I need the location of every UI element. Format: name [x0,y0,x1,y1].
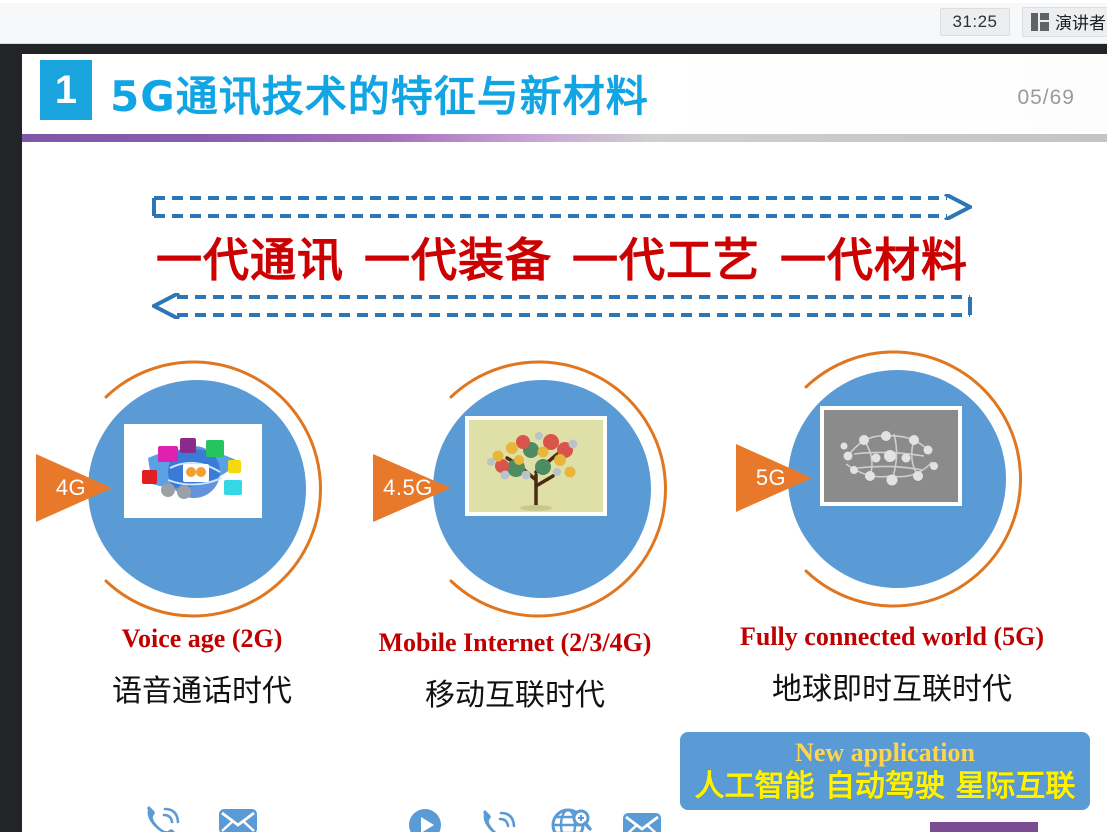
phrase-4: 一代材料 [780,224,968,290]
caption-stage-1: Voice age (2G) 语音通话时代 [62,624,342,710]
slide-page-number: 05/69 [1017,86,1075,110]
slide-frame-left [0,44,22,832]
slide-title: 5G通讯技术的特征与新材料 [110,63,649,124]
globe-search-icon [548,806,592,832]
player-toolbar: 31:25 演讲者 [0,0,1107,44]
caption-stage-2: Mobile Internet (2/3/4G) 移动互联时代 [350,628,680,714]
phrase-2: 一代装备 [364,224,552,290]
stage-circles: 4G [22,344,1107,614]
presenter-view-label: 演讲者 [1055,9,1106,34]
section-number-badge: 1 [40,60,92,120]
caption-cn-1: 语音通话时代 [62,666,342,710]
dashed-arrow-left-icon [152,293,972,319]
generation-phrases: 一代通讯 一代装备 一代工艺 一代材料 [152,220,972,294]
new-application-box: New application 人工智能 自动驾驶 星际互联 [680,732,1090,810]
stage-thumbnail-neural-mesh [820,406,962,506]
stage-thumbnail-people-chat [124,424,262,518]
caption-en-3: Fully connected world (5G) [692,622,1092,652]
stage-circle-45g[interactable]: 4.5G [407,354,677,624]
generation-banner: 一代通讯 一代装备 一代工艺 一代材料 [152,194,972,319]
slide-header: 1 5G通讯技术的特征与新材料 05/69 [22,54,1107,132]
slide-frame-top [0,44,1107,54]
dashed-arrow-right-icon [152,194,972,220]
envelope-icon [620,806,664,832]
presenter-view-icon [1031,13,1049,31]
envelope-icon [216,802,260,832]
caption-en-1: Voice age (2G) [62,624,342,654]
generation-arrow-4g [34,450,120,526]
play-circle-icon [404,806,448,832]
presenter-view-button[interactable]: 演讲者 [1022,7,1107,37]
screen: 31:25 演讲者 1 5G通讯技术的特征与新材料 05/69 [0,0,1107,832]
phone-ringing-icon [140,802,184,832]
toolbar-top-divider [0,0,1107,3]
stage-1-icons [140,802,260,832]
presentation-timer[interactable]: 31:25 [940,8,1010,36]
bottom-purple-tab [930,822,1038,832]
caption-stage-3: Fully connected world (5G) 地球即时互联时代 [692,622,1092,708]
generation-arrow-45g [371,450,457,526]
phrase-3: 一代工艺 [572,224,760,290]
stage-circle-4g[interactable]: 4G [62,354,332,624]
caption-cn-3: 地球即时互联时代 [692,664,1092,708]
header-gradient-rule [22,134,1107,142]
stage-2-icons [404,806,664,832]
stage-thumbnail-app-tree [465,416,607,516]
stage-circle-5g[interactable]: 5G [762,344,1032,614]
new-application-title-en: New application [795,739,975,768]
caption-en-2: Mobile Internet (2/3/4G) [350,628,680,658]
generation-arrow-5g [734,440,820,516]
phone-ringing-icon [476,806,520,832]
new-application-title-cn: 人工智能 自动驾驶 星际互联 [695,770,1076,805]
slide-canvas: 1 5G通讯技术的特征与新材料 05/69 一代通讯 一代装备 一代工艺 一代材… [22,54,1107,832]
caption-cn-2: 移动互联时代 [350,670,680,714]
phrase-1: 一代通讯 [156,224,344,290]
stage-captions: Voice age (2G) 语音通话时代 Mobile Internet (2… [22,616,1107,726]
